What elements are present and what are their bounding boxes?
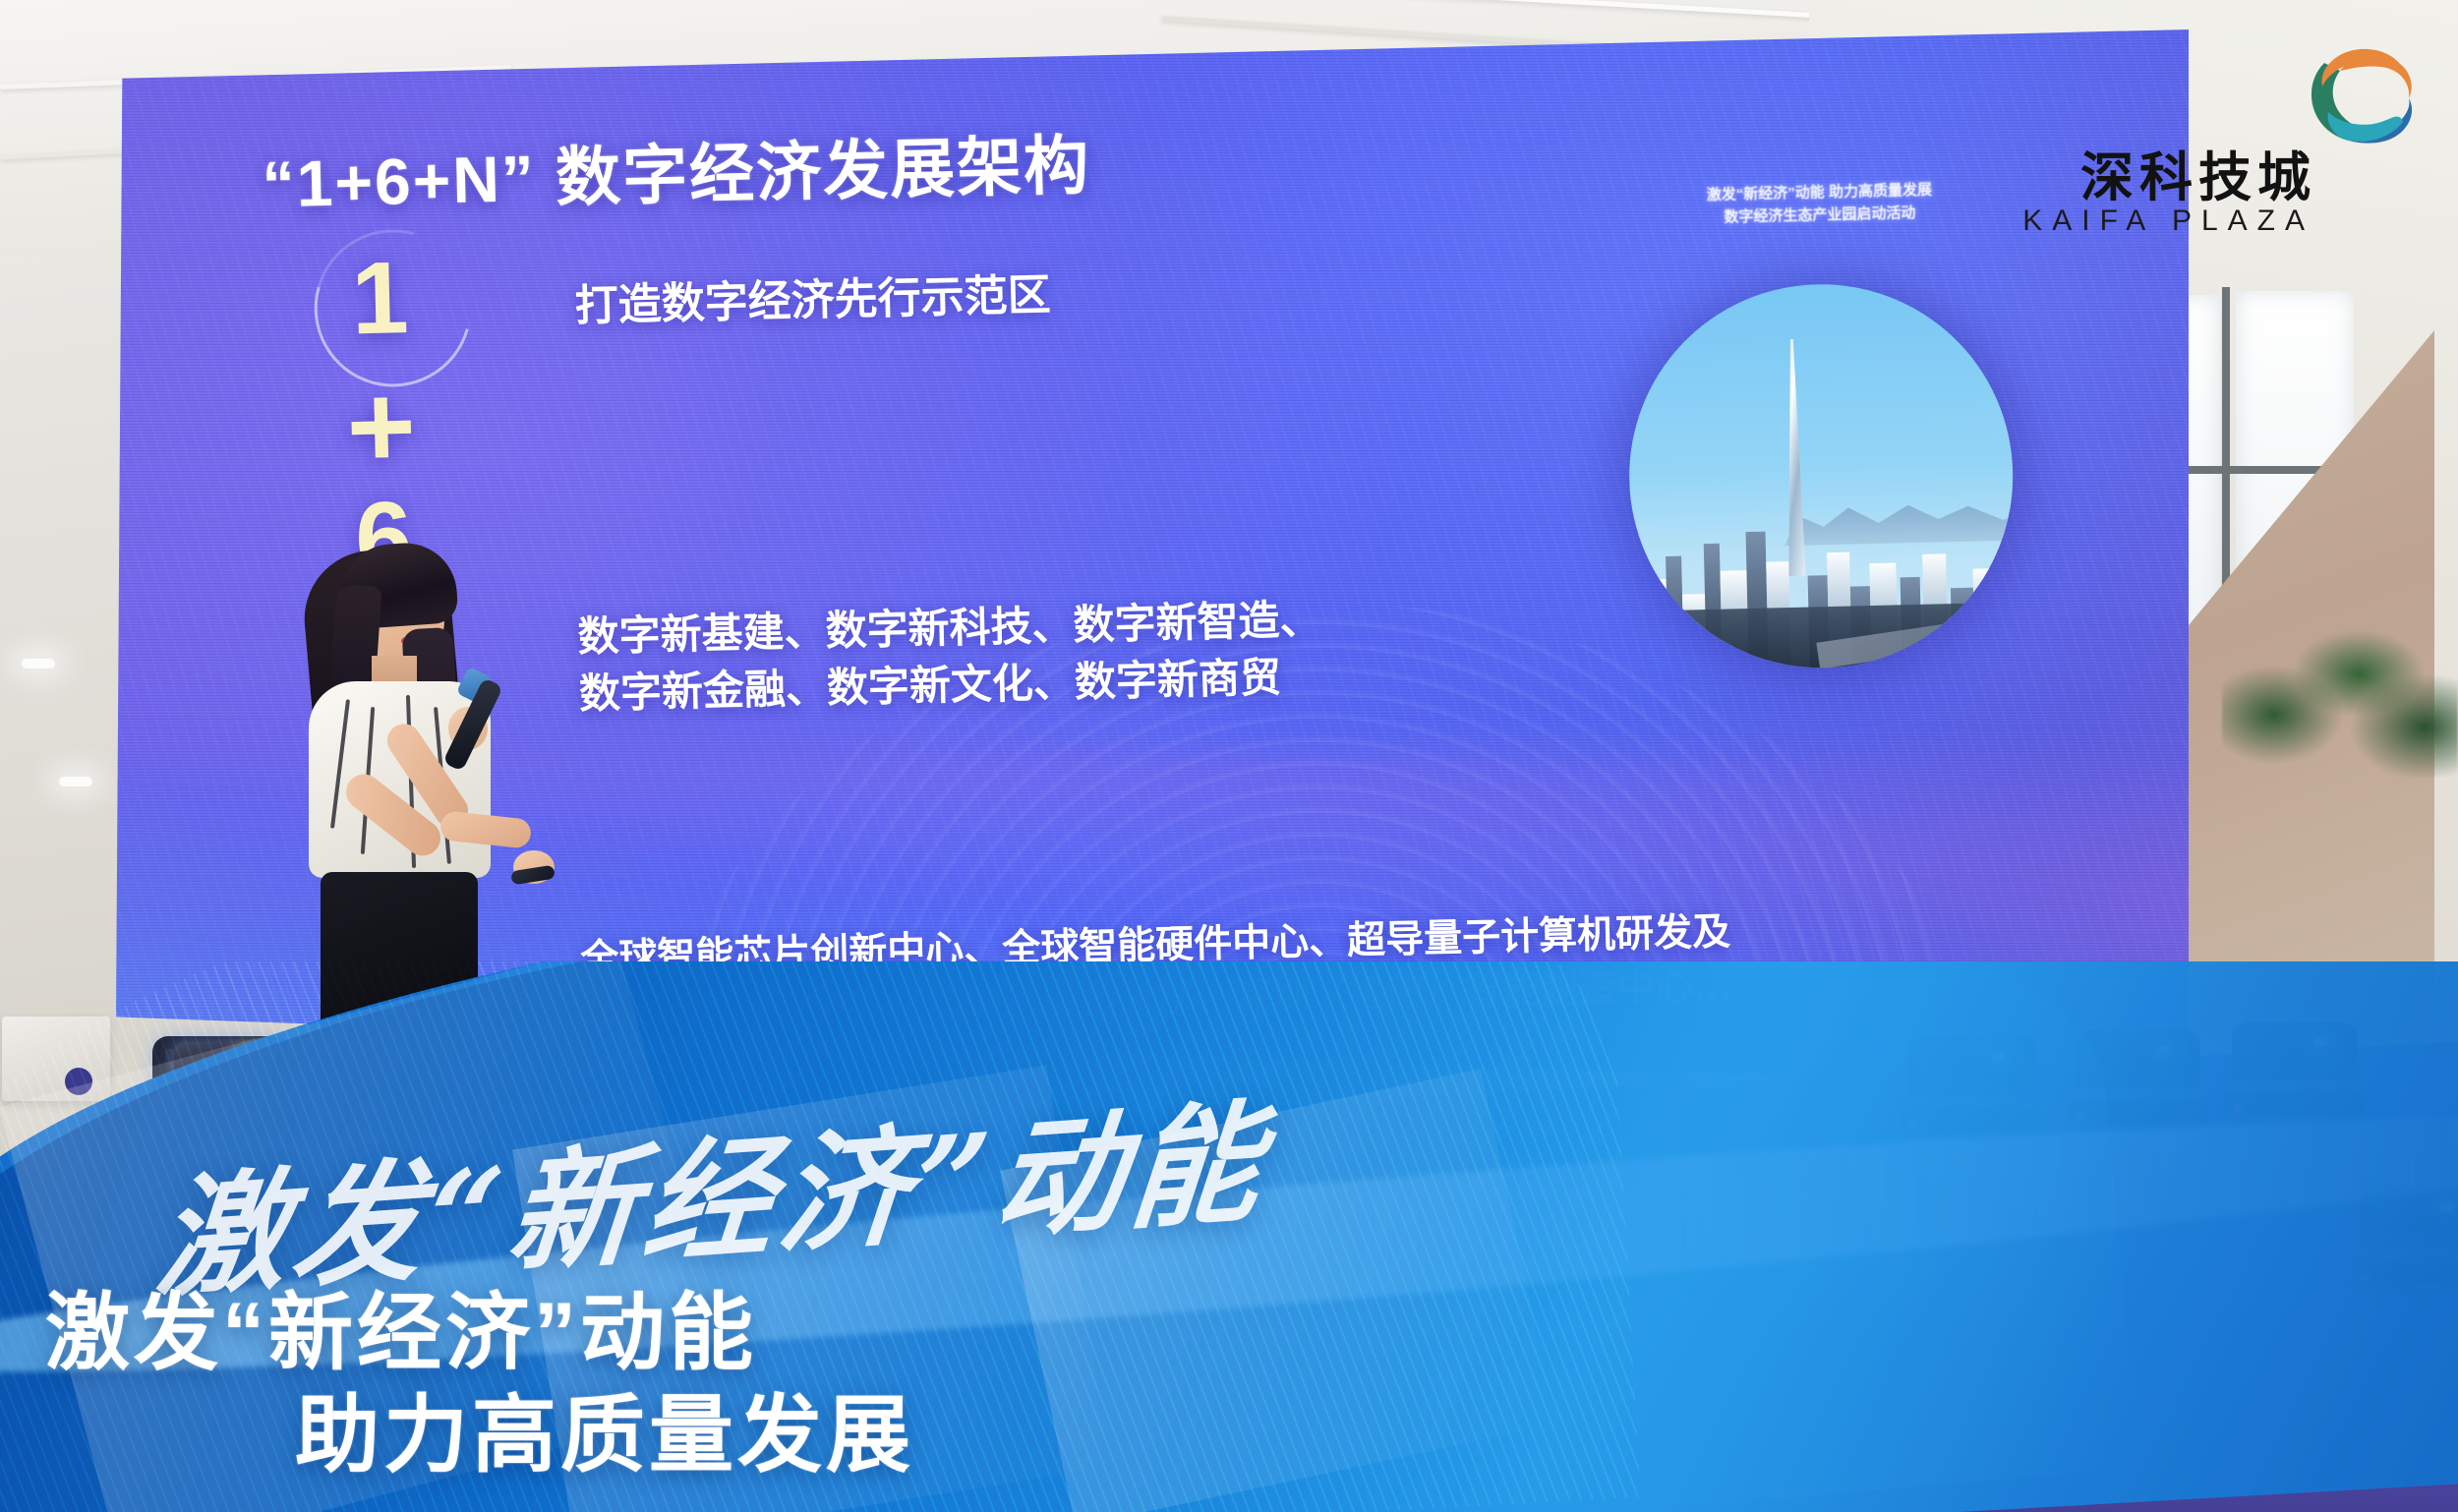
slide-number-one: 1 (350, 247, 409, 350)
brand-name-en: KAIFA PLAZA (2022, 204, 2314, 238)
slide-title: “1+6+N” 数字经济发展架构 (262, 113, 1092, 227)
kaifa-plaza-logo-icon (2291, 29, 2421, 149)
decorative-plant (2222, 570, 2458, 777)
brand-name-cn: 深科技城 (2080, 134, 2316, 211)
bottom-banner-overlay: 激发“新经济”动能 激发“新经济”动能 助力高质量发展 (0, 961, 2458, 1512)
slide-body-item-1: 打造数字经济先行示范区 (574, 260, 1051, 333)
slide-plus-sign-top: + (345, 367, 417, 487)
slide-city-photo (1625, 280, 2018, 672)
event-photo-scene: “1+6+N” 数字经济发展架构 1 + 6 + N 打造数字经济先行示范区 数… (0, 0, 2458, 1512)
slide-body-item-2: 数字新基建、数字新科技、数字新智造、 数字新金融、数字新文化、数字新商贸 (577, 591, 1323, 723)
banner-headline-line-2: 助力高质量发展 (295, 1366, 914, 1488)
ceiling-downlight (22, 659, 55, 669)
slide-corner-slogan: 激发“新经济”动能 助力高质量发展 数字经济生态产业园启动活动 (1642, 178, 1997, 230)
ceiling-downlight (59, 777, 92, 786)
